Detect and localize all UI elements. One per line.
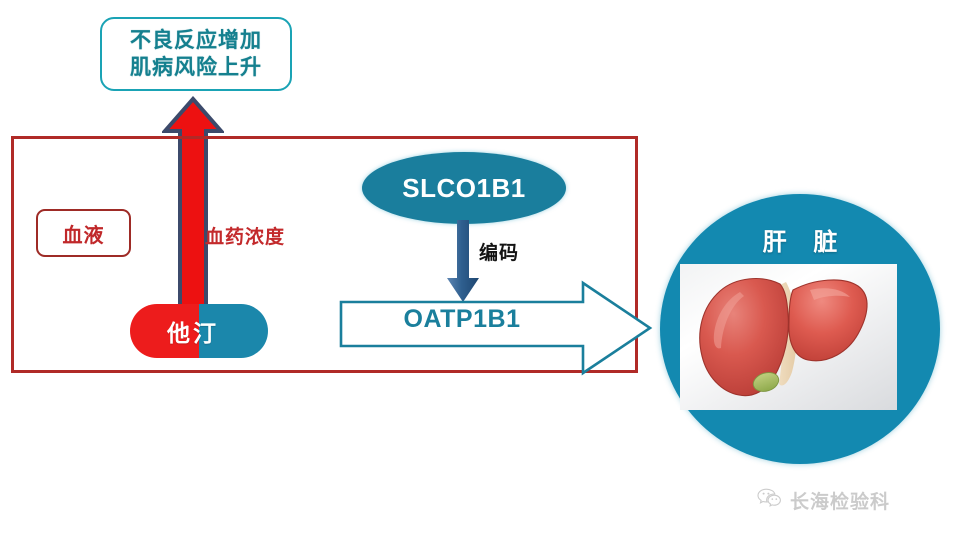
- plasma-concentration-label: 血药浓度: [205, 222, 285, 249]
- outcome-box: 不良反应增加 肌病风险上升: [100, 17, 292, 91]
- statin-capsule-label: 他汀: [167, 314, 219, 348]
- wechat-icon: [757, 488, 783, 513]
- oatp1b1-label: OATP1B1: [342, 305, 582, 334]
- slco1b1-gene-label: SLCO1B1: [402, 173, 525, 204]
- liver-illustration: [680, 264, 897, 410]
- liver-label: 肝 脏: [660, 222, 940, 257]
- outcome-line-1: 不良反应增加: [130, 27, 262, 54]
- encode-label: 编码: [479, 238, 519, 265]
- watermark: 长海检验科: [757, 487, 890, 514]
- outcome-line-2: 肌病风险上升: [130, 54, 262, 81]
- blood-label-box: 血液: [36, 209, 131, 257]
- liver-node: 肝 脏: [660, 194, 940, 464]
- diagram-canvas: 不良反应增加 肌病风险上升 血液 血药浓度 他汀 SLCO1B1: [0, 0, 960, 540]
- statin-capsule: 他汀: [130, 304, 268, 358]
- watermark-text: 长海检验科: [790, 487, 890, 514]
- slco1b1-gene-node: SLCO1B1: [362, 152, 566, 224]
- blood-label-text: 血液: [63, 219, 105, 248]
